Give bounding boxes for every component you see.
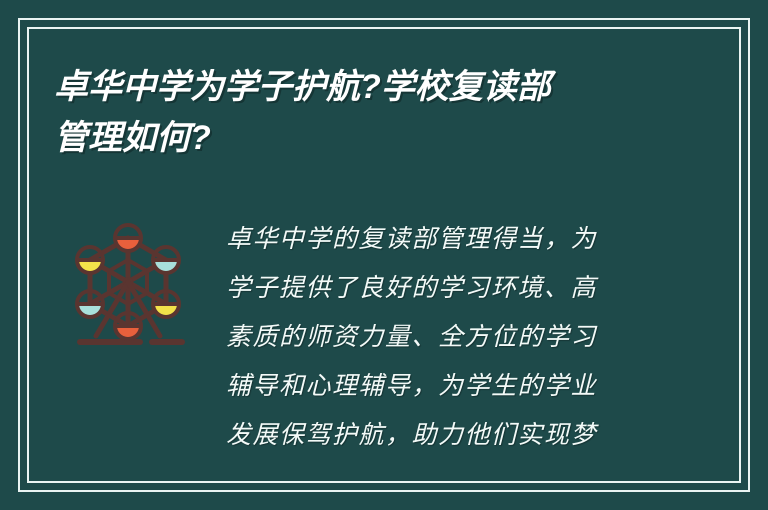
article-body: 卓华中学的复读部管理得当，为 学子提供了良好的学习环境、高 素质的师资力量、全方… [226,214,650,482]
body-line-3: 素质的师资力量、全方位的学习 [226,312,650,361]
body-line-4: 辅导和心理辅导，为学生的学业 [226,361,650,410]
body-line-2: 学子提供了良好的学习环境、高 [226,263,650,312]
title-line-1: 卓华中学为学子护航?学校复读部 [54,62,684,113]
article-cover-card: 卓华中学为学子护航?学校复读部 管理如何? [0,0,768,510]
ferris-wheel-icon [66,208,196,354]
title-line-2: 管理如何? [54,113,684,164]
body-line-1: 卓华中学的复读部管理得当，为 [226,214,650,263]
body-line-5: 发展保驾护航，助力他们实现梦 [226,410,650,459]
page-title: 卓华中学为学子护航?学校复读部 管理如何? [54,62,684,164]
